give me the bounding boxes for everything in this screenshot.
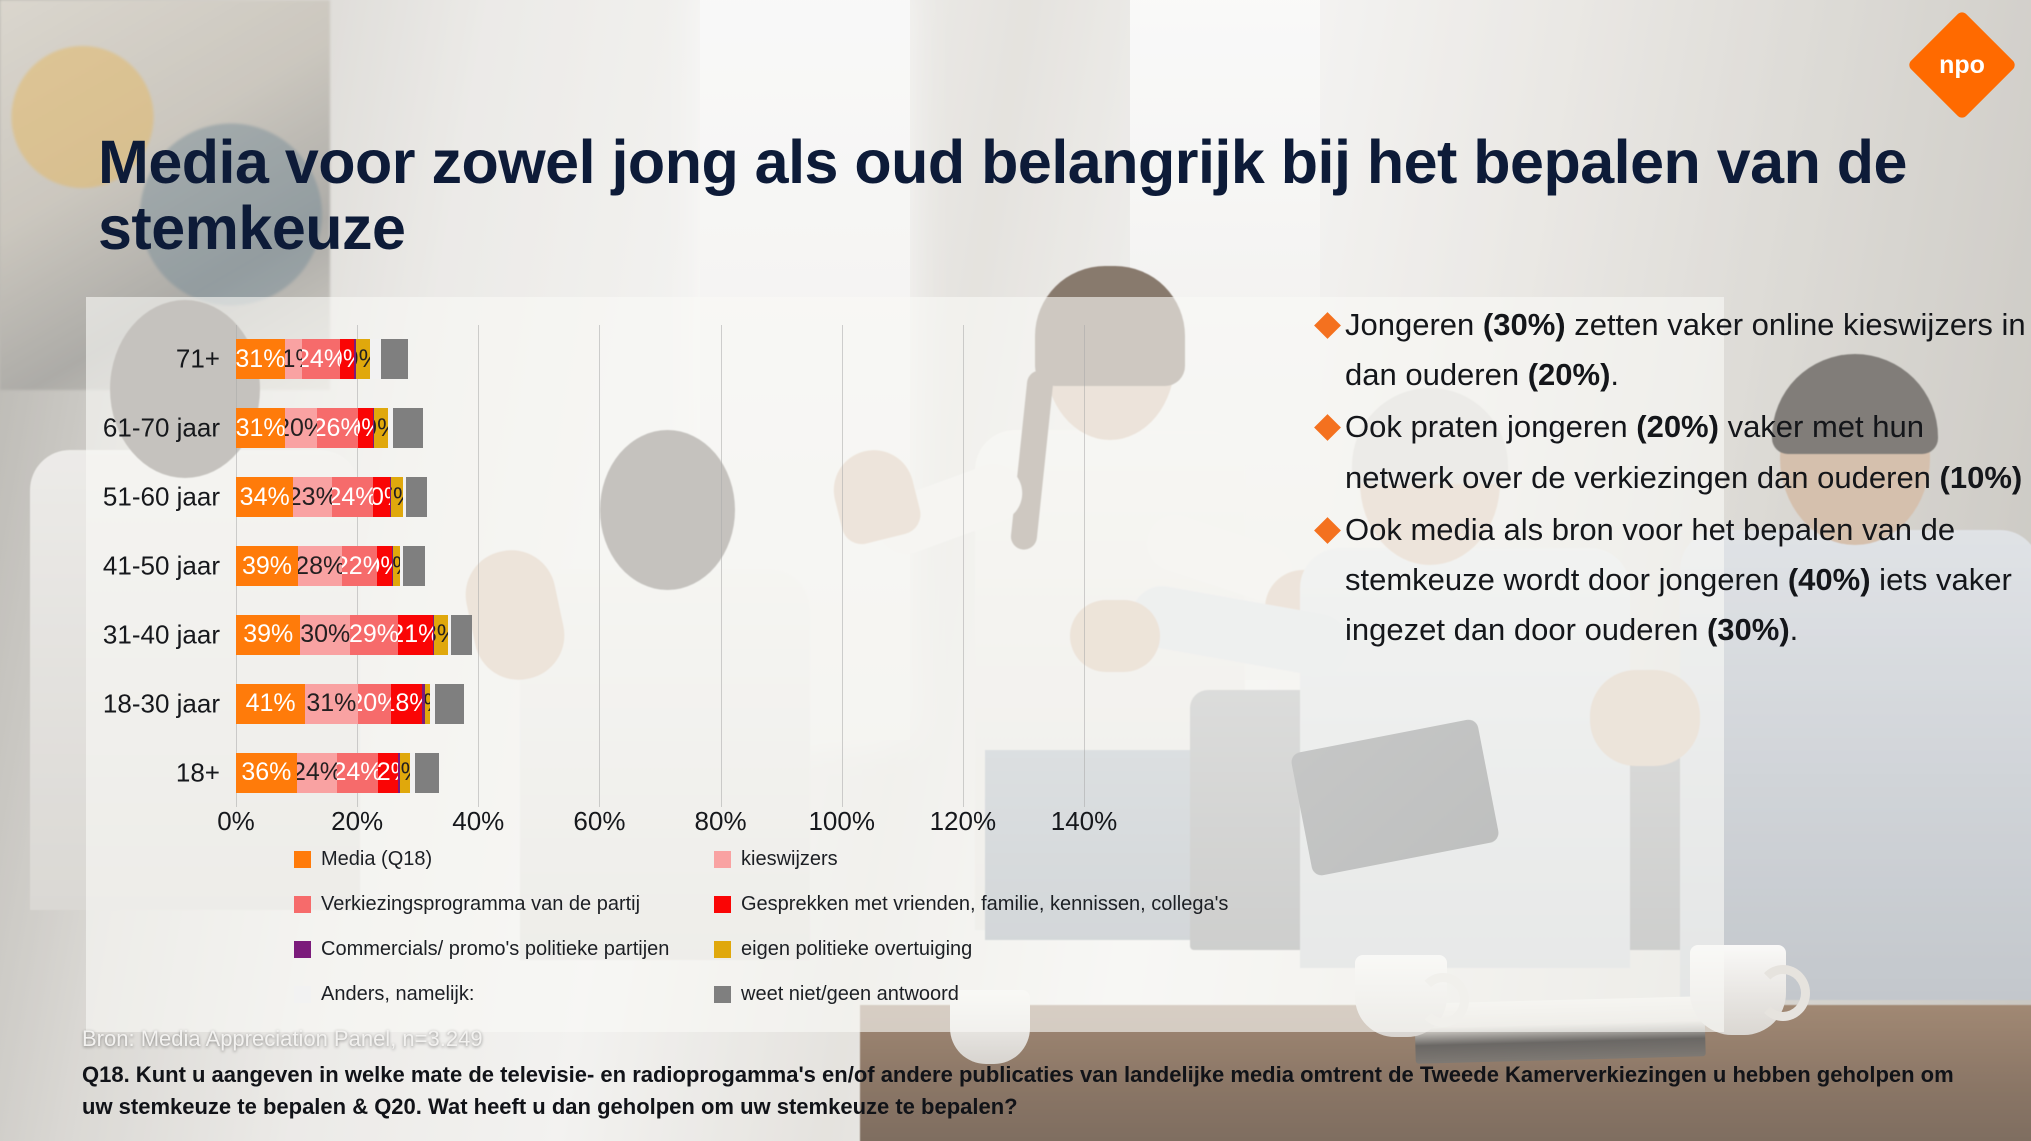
bar-segment	[415, 753, 439, 793]
commentary-text: Jongeren (30%) zetten vaker online kiesw…	[1345, 300, 2030, 400]
category-label: 18-30 jaar	[103, 688, 220, 719]
bar-segment: 24%	[297, 753, 338, 793]
chart-plot-area: 71+31%11%24%9%9%61-70 jaar31%20%26%9%9%5…	[236, 325, 1084, 807]
bar-segment: 9%	[377, 546, 391, 586]
bar-segment: 12%	[378, 753, 398, 793]
chart-x-axis: 0%20%40%60%80%100%120%140%	[236, 806, 1084, 846]
gridline	[1084, 325, 1085, 807]
bar-segment	[381, 339, 408, 379]
category-label: 41-50 jaar	[103, 551, 220, 582]
bar-segment: 9%	[340, 339, 354, 379]
bar-segment: 9%	[358, 408, 372, 448]
gridline	[478, 325, 479, 807]
legend-item[interactable]: Verkiezingsprogramma van de partij	[294, 893, 714, 916]
legend-swatch-icon	[714, 851, 731, 868]
x-axis-tick: 80%	[695, 806, 747, 837]
npo-logo-text: npo	[1923, 26, 2001, 104]
bar-segment: 9%	[374, 408, 388, 448]
bar-segment: 39%	[236, 615, 300, 655]
bar-row: 18+36%24%24%12%6%	[236, 753, 472, 793]
legend-label: kieswijzers	[741, 848, 838, 871]
legend-item[interactable]: Anders, namelijk:	[294, 983, 714, 1006]
slide-root: npo Media voor zowel jong als oud belang…	[0, 0, 2031, 1141]
bar-segment: 24%	[332, 477, 373, 517]
commentary-text: Ook praten jongeren (20%) vaker met hun …	[1345, 402, 2030, 502]
bar-segment	[393, 408, 423, 448]
bar-segment: 11%	[285, 339, 302, 379]
bar-segment: 29%	[350, 615, 398, 655]
legend-item[interactable]: Gesprekken met vrienden, familie, kennis…	[714, 893, 1274, 916]
x-axis-tick: 140%	[1051, 806, 1118, 837]
bar-row: 41-50 jaar39%28%22%9%4%	[236, 546, 458, 586]
bar-segment: 23%	[293, 477, 332, 517]
x-axis-tick: 0%	[217, 806, 255, 837]
bar-segment: 30%	[300, 615, 350, 655]
category-label: 31-40 jaar	[103, 619, 220, 650]
commentary-panel: Jongeren (30%) zetten vaker online kiesw…	[1318, 300, 2030, 658]
bar-segment: 31%	[236, 408, 285, 448]
bar-segment: 7%	[391, 477, 403, 517]
bar-segment: 6%	[400, 753, 410, 793]
x-axis-tick: 120%	[930, 806, 997, 837]
bar-segment: 34%	[236, 477, 293, 517]
bar-segment: 8%	[434, 615, 447, 655]
bar-row: 31-40 jaar39%30%29%21%8%	[236, 615, 472, 655]
legend-label: eigen politieke overtuiging	[741, 938, 972, 961]
x-axis-tick: 60%	[573, 806, 625, 837]
legend-item[interactable]: Media (Q18)	[294, 848, 714, 871]
bar-segment: 21%	[398, 615, 433, 655]
legend-item[interactable]: kieswijzers	[714, 848, 1274, 871]
commentary-bullet: Ook praten jongeren (20%) vaker met hun …	[1318, 402, 2030, 502]
legend-swatch-icon	[294, 986, 311, 1003]
category-label: 61-70 jaar	[103, 413, 220, 444]
question-note: Q18. Kunt u aangeven in welke mate de te…	[82, 1059, 1982, 1123]
bar-segment: 24%	[302, 339, 340, 379]
legend-swatch-icon	[714, 986, 731, 1003]
legend-swatch-icon	[714, 941, 731, 958]
bar-segment: 26%	[317, 408, 358, 448]
bar-segment: 28%	[298, 546, 342, 586]
page-title: Media voor zowel jong als oud belangrijk…	[98, 130, 1918, 262]
legend-label: Media (Q18)	[321, 848, 432, 871]
legend-item[interactable]: Commercials/ promo's politieke partijen	[294, 938, 714, 961]
commentary-text: Ook media als bron voor het bepalen van …	[1345, 505, 2030, 656]
bar-segment	[406, 477, 426, 517]
bar-segment: 24%	[337, 753, 378, 793]
category-label: 18+	[176, 757, 220, 788]
bar-segment: 31%	[236, 339, 285, 379]
bar-segment: 36%	[236, 753, 297, 793]
bar-row: 61-70 jaar31%20%26%9%9%	[236, 408, 458, 448]
gridline	[842, 325, 843, 807]
x-axis-tick: 20%	[331, 806, 383, 837]
commentary-bullet: Ook media als bron voor het bepalen van …	[1318, 505, 2030, 656]
bullet-diamond-icon	[1314, 415, 1341, 442]
legend-label: Gesprekken met vrienden, familie, kennis…	[741, 893, 1228, 916]
category-label: 71+	[176, 344, 220, 375]
bar-segment: 10%	[373, 477, 390, 517]
legend-label: Verkiezingsprogramma van de partij	[321, 893, 640, 916]
bar-segment	[451, 615, 472, 655]
category-label: 51-60 jaar	[103, 482, 220, 513]
footer: Bron: Media Appreciation Panel, n=3.249 …	[82, 1026, 1982, 1123]
bar-row: 51-60 jaar34%23%24%10%7%	[236, 477, 472, 517]
commentary-bullet: Jongeren (30%) zetten vaker online kiesw…	[1318, 300, 2030, 400]
x-axis-tick: 100%	[808, 806, 875, 837]
legend-swatch-icon	[294, 851, 311, 868]
bullet-diamond-icon	[1314, 312, 1341, 339]
gridline	[963, 325, 964, 807]
legend-label: Commercials/ promo's politieke partijen	[321, 938, 669, 961]
bar-segment: 9%	[356, 339, 370, 379]
legend-swatch-icon	[294, 896, 311, 913]
legend-label: Anders, namelijk:	[321, 983, 474, 1006]
bar-segment: 20%	[358, 684, 392, 724]
bar-segment: 18%	[391, 684, 421, 724]
bar-segment: 41%	[236, 684, 305, 724]
bar-segment	[435, 684, 464, 724]
bar-row: 18-30 jaar41%31%20%18%3%	[236, 684, 472, 724]
legend-label: weet niet/geen antwoord	[741, 983, 959, 1006]
bar-segment: 22%	[342, 546, 377, 586]
chart-legend: Media (Q18)kieswijzersVerkiezingsprogram…	[294, 848, 1274, 1006]
bar-segment: 20%	[285, 408, 317, 448]
bar-segment	[403, 546, 425, 586]
x-axis-tick: 40%	[452, 806, 504, 837]
bullet-diamond-icon	[1314, 517, 1341, 544]
bar-segment	[370, 339, 381, 379]
legend-swatch-icon	[714, 896, 731, 913]
bar-segment: 31%	[305, 684, 357, 724]
npo-logo: npo	[1907, 10, 2017, 120]
source-note: Bron: Media Appreciation Panel, n=3.249	[82, 1026, 1982, 1052]
legend-swatch-icon	[294, 941, 311, 958]
bar-row: 71+31%11%24%9%9%	[236, 339, 457, 379]
legend-item[interactable]: eigen politieke overtuiging	[714, 938, 1274, 961]
gridline	[721, 325, 722, 807]
gridline	[599, 325, 600, 807]
bar-segment: 39%	[236, 546, 298, 586]
legend-item[interactable]: weet niet/geen antwoord	[714, 983, 1274, 1006]
